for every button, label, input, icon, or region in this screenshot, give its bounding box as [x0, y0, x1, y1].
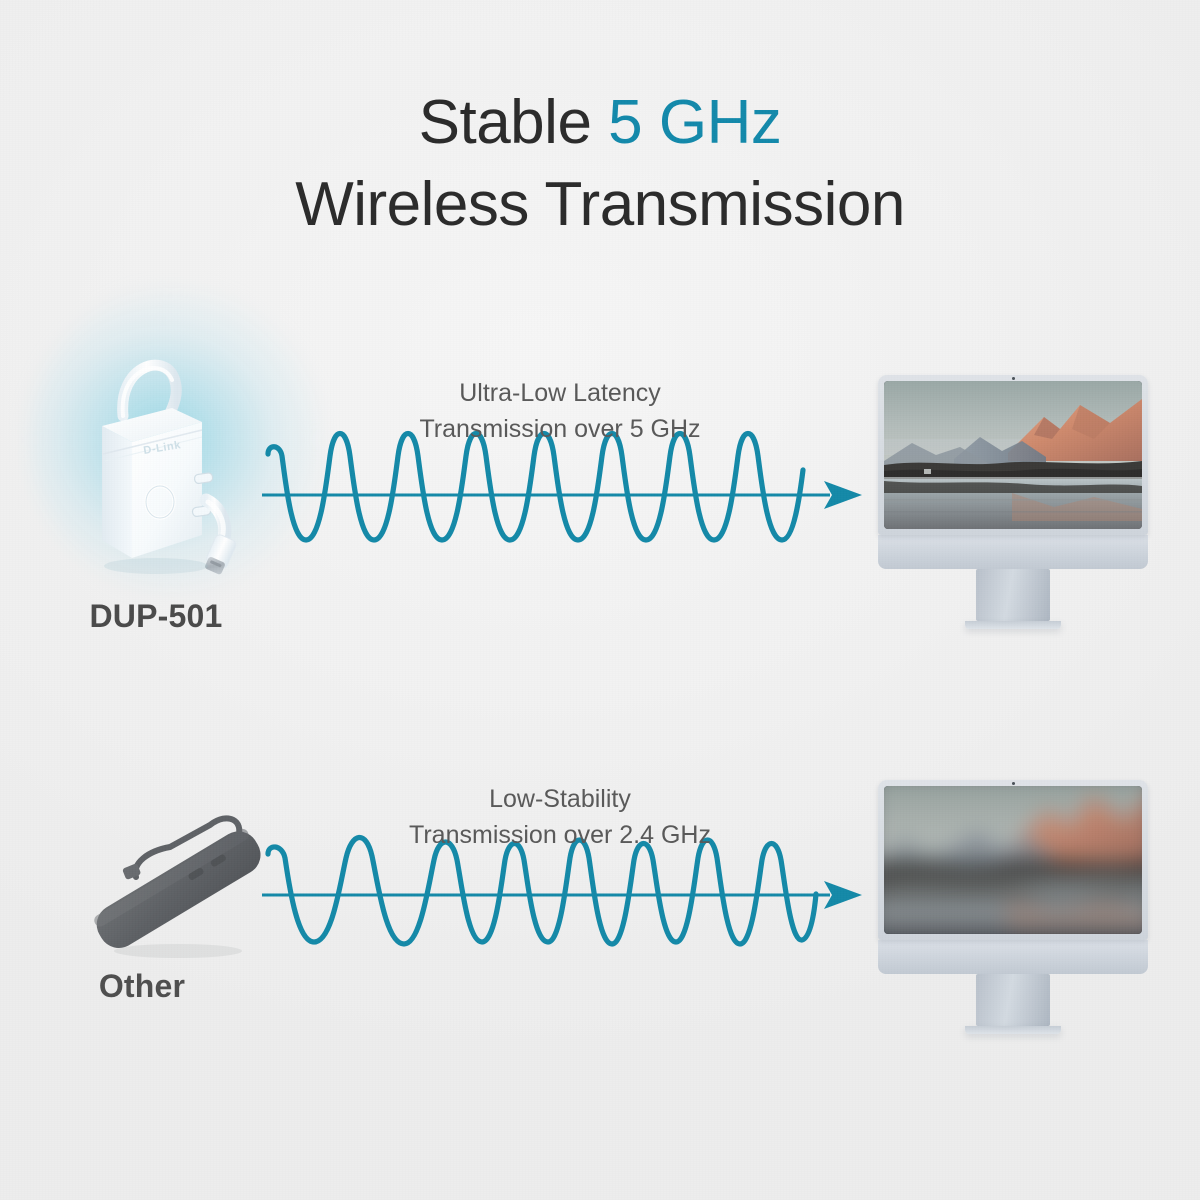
caption-good-line-1: Ultra-Low Latency [459, 379, 660, 407]
caption-bad: Low-Stability Transmission over 2.4 GHz [300, 782, 820, 853]
webcam-icon [1012, 377, 1015, 380]
monitor-screen-sharp [884, 381, 1142, 529]
page-title: Stable 5 GHz Wireless Transmission [0, 82, 1200, 246]
monitor-stand-neck-blurred [976, 974, 1050, 1026]
caption-bad-line-2: Transmission over 2.4 GHz [300, 818, 820, 854]
monitor-screen-blurred [884, 786, 1142, 934]
other-device [70, 785, 290, 965]
monitor-chin-sharp [878, 535, 1148, 569]
headline-accent: 5 GHz [608, 88, 781, 157]
monitor-stand-foot-sharp [965, 621, 1061, 629]
device-label-other: Other [0, 968, 292, 1005]
wallpaper-sharp [884, 381, 1142, 529]
product-comparison-graphic: Stable 5 GHz Wireless Transmission [0, 0, 1200, 1200]
monitor-sharp [878, 375, 1148, 629]
wave-stable-5ghz [262, 430, 862, 560]
device-label-dup-501: DUP-501 [6, 598, 306, 635]
dup-left-face [102, 426, 132, 558]
headline-line-2: Wireless Transmission [0, 164, 1200, 246]
monitor-bezel-blurred [878, 780, 1148, 940]
monitor-chin-blurred [878, 940, 1148, 974]
dup-usb-c-connector [202, 533, 237, 576]
wallpaper-blurred [884, 786, 1142, 934]
monitor-blurred [878, 780, 1148, 1034]
dup-501-device: D-Link [60, 330, 290, 580]
monitor-stand-neck-sharp [976, 569, 1050, 621]
wave-path-bad [268, 837, 816, 944]
headline-line-1: Stable 5 GHz [0, 82, 1200, 164]
webcam-icon [1012, 782, 1015, 785]
caption-good-line-2: Transmission over 5 GHz [300, 412, 820, 448]
caption-good: Ultra-Low Latency Transmission over 5 GH… [300, 376, 820, 447]
monitor-bezel-sharp [878, 375, 1148, 535]
caption-bad-line-1: Low-Stability [489, 785, 631, 813]
monitor-stand-foot-blurred [965, 1026, 1061, 1034]
headline-prefix: Stable [419, 88, 609, 157]
wave-path-good [268, 434, 803, 541]
dup-port-usb-1 [194, 472, 213, 483]
